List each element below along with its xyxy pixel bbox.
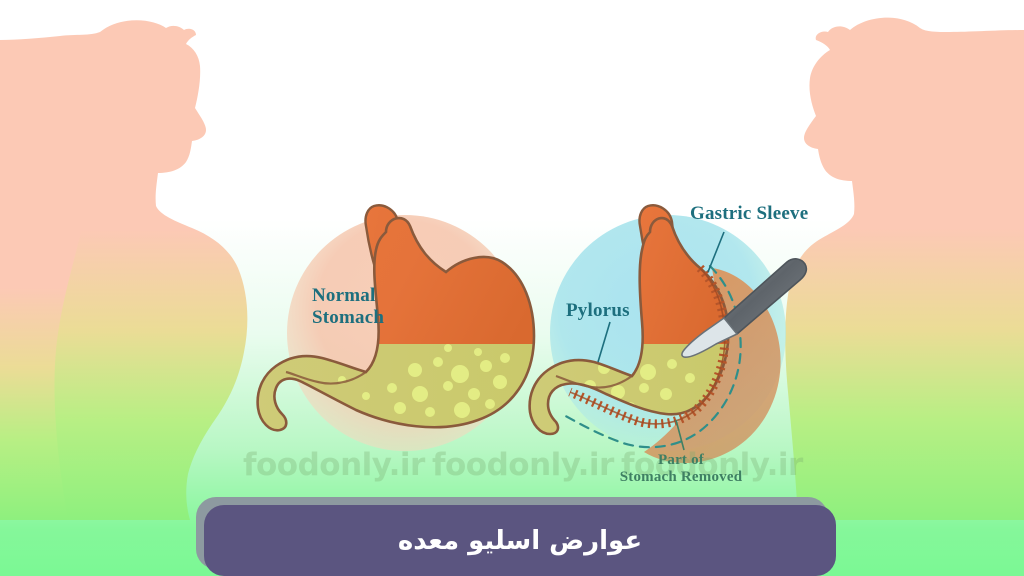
watermark-1: foodonly.ir [243, 447, 425, 483]
label-normal-stomach: Normal Stomach [312, 285, 384, 329]
label-pylorus: Pylorus [566, 300, 630, 322]
illustration-canvas: foodonly.ir foodonly.ir foodonly.ir Norm… [0, 0, 1024, 576]
banner-title-text: عوارض اسلیو معده [398, 526, 642, 556]
label-gastric-sleeve: Gastric Sleeve [690, 203, 808, 225]
title-banner: عوارض اسلیو معده [204, 505, 836, 576]
stomach-comparison-diagram [0, 0, 1024, 576]
watermark-2: foodonly.ir [432, 447, 614, 483]
label-part-removed: Part of Stomach Removed [598, 452, 764, 487]
